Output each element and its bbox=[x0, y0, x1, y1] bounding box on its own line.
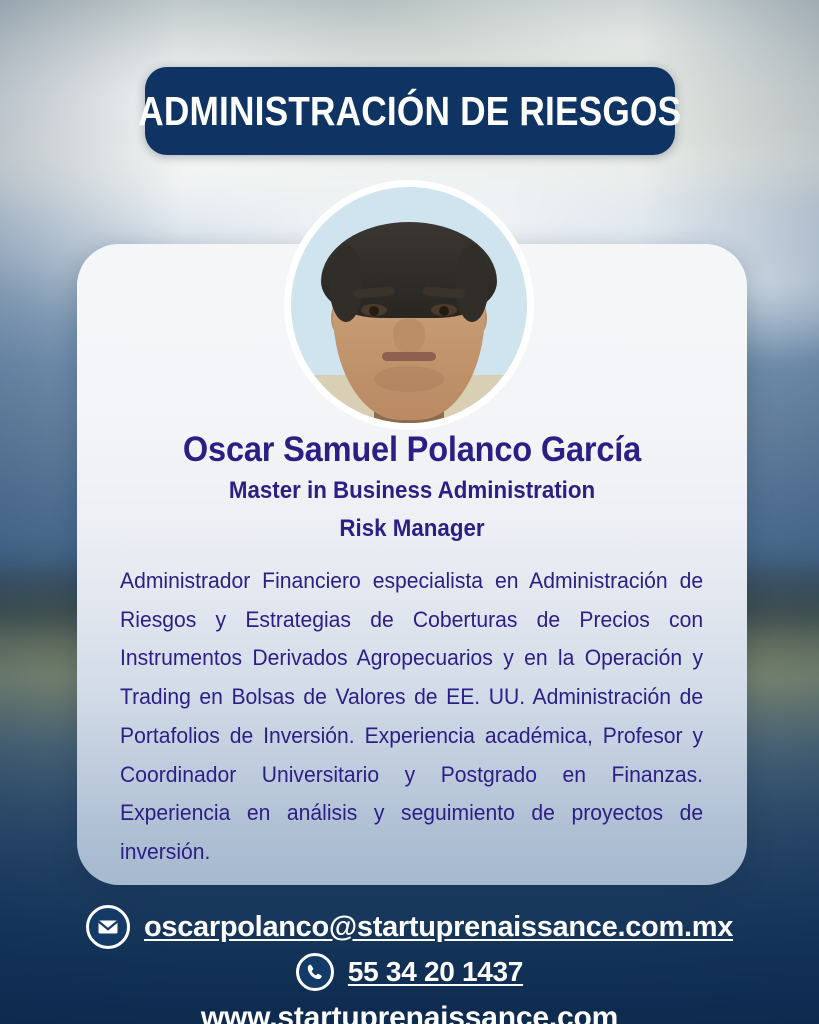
person-role: Risk Manager bbox=[140, 513, 683, 545]
title-banner: ADMINISTRACIÓN DE RIESGOS bbox=[145, 67, 675, 155]
portrait-nose bbox=[393, 319, 425, 353]
person-degree: Master in Business Administration bbox=[140, 475, 683, 507]
portrait-photo bbox=[291, 187, 527, 423]
phone-row[interactable]: 55 34 20 1437 bbox=[296, 953, 523, 991]
envelope-icon bbox=[86, 905, 130, 949]
page-title: ADMINISTRACIÓN DE RIESGOS bbox=[138, 91, 681, 132]
portrait-hair-left bbox=[329, 244, 363, 322]
avatar bbox=[284, 180, 534, 430]
person-name: Oscar Samuel Polanco García bbox=[140, 430, 683, 469]
contact-footer: oscarpolanco@startuprenaissance.com.mx 5… bbox=[0, 905, 819, 1024]
profile-poster: ADMINISTRACIÓN DE RIESGOS bbox=[0, 0, 819, 1024]
website-link[interactable]: www.startuprenaissance.com bbox=[201, 1001, 618, 1024]
profile-details: Oscar Samuel Polanco García Master in Bu… bbox=[77, 430, 747, 872]
portrait-mouth bbox=[382, 352, 436, 361]
person-bio: Administrador Financiero especialista en… bbox=[120, 562, 703, 872]
website-row[interactable]: www.startuprenaissance.com bbox=[201, 1001, 618, 1024]
portrait-hair-right bbox=[455, 244, 489, 322]
email-row[interactable]: oscarpolanco@startuprenaissance.com.mx bbox=[86, 905, 733, 949]
phone-icon bbox=[296, 953, 334, 991]
email-link[interactable]: oscarpolanco@startuprenaissance.com.mx bbox=[144, 911, 733, 944]
phone-number[interactable]: 55 34 20 1437 bbox=[348, 956, 523, 988]
